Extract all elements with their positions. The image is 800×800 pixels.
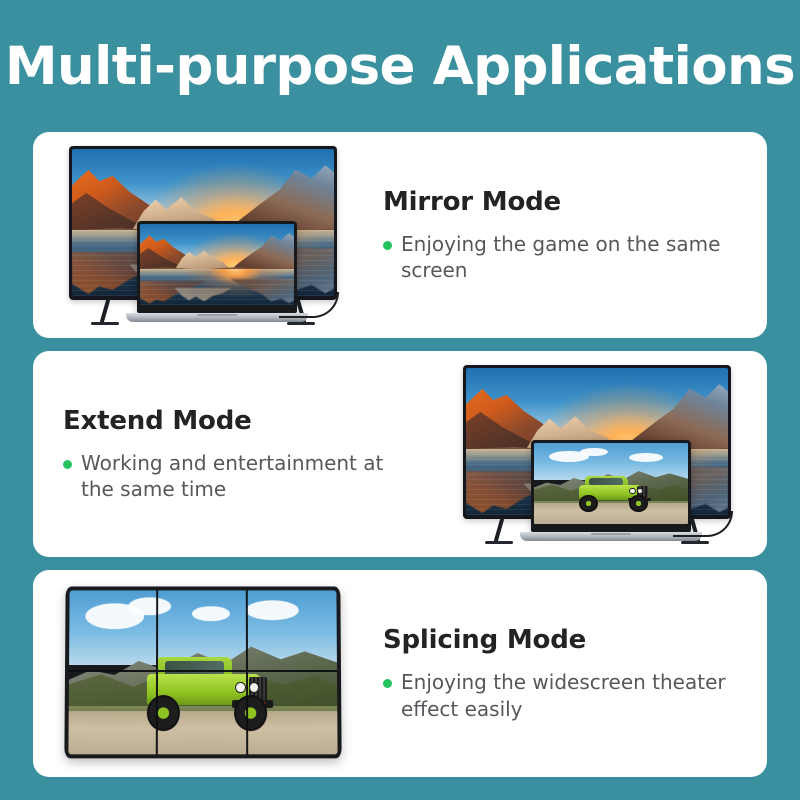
media-extend-mode bbox=[427, 351, 767, 557]
card-description: Enjoying the widescreen theater effect e… bbox=[401, 669, 749, 722]
tv-foot-right bbox=[681, 541, 709, 544]
card-splicing-mode[interactable]: Splicing Mode Enjoying the widescreen th… bbox=[33, 570, 767, 777]
card-description: Enjoying the game on the same screen bbox=[401, 231, 749, 284]
offroad-jeep-scene bbox=[68, 590, 337, 754]
media-splicing-mode bbox=[33, 570, 373, 777]
laptop-screen bbox=[531, 440, 691, 532]
page-title: Multi-purpose Applications bbox=[5, 40, 795, 93]
card-extend-mode[interactable]: Extend Mode Working and entertainment at… bbox=[33, 351, 767, 557]
card-description: Working and entertainment at the same ti… bbox=[81, 450, 417, 503]
promo-page: Multi-purpose Applications bbox=[0, 0, 800, 800]
card-bullet: Enjoying the widescreen theater effect e… bbox=[383, 669, 749, 722]
jeep-vehicle bbox=[138, 656, 272, 728]
tv-foot-right bbox=[287, 322, 315, 325]
jeep-vehicle bbox=[574, 475, 651, 511]
card-bullet: Enjoying the game on the same screen bbox=[383, 231, 749, 284]
copy-splicing-mode: Splicing Mode Enjoying the widescreen th… bbox=[373, 625, 767, 722]
bullet-dot-icon bbox=[383, 241, 392, 250]
bullet-dot-icon bbox=[383, 679, 392, 688]
card-title: Mirror Mode bbox=[383, 187, 749, 217]
card-bullet: Working and entertainment at the same ti… bbox=[63, 450, 417, 503]
laptop-screen bbox=[137, 221, 297, 313]
page-header: Multi-purpose Applications bbox=[0, 0, 800, 132]
media-mirror-mode bbox=[33, 132, 373, 338]
tv-leg-left bbox=[494, 518, 504, 542]
offroad-jeep-scene bbox=[534, 443, 688, 524]
copy-mirror-mode: Mirror Mode Enjoying the game on the sam… bbox=[373, 187, 767, 284]
tv-foot-left bbox=[91, 322, 119, 325]
video-wall-device bbox=[64, 586, 341, 758]
tv-foot-left bbox=[485, 541, 513, 544]
laptop-device bbox=[531, 440, 691, 541]
card-title: Splicing Mode bbox=[383, 625, 749, 655]
video-wall-screen bbox=[68, 590, 337, 754]
bullet-dot-icon bbox=[63, 460, 72, 469]
tv-leg-left bbox=[100, 299, 110, 323]
card-title: Extend Mode bbox=[63, 406, 417, 436]
laptop-device bbox=[137, 221, 297, 322]
hdmi-cable bbox=[279, 292, 339, 318]
copy-extend-mode: Extend Mode Working and entertainment at… bbox=[33, 406, 427, 503]
sunset-lake-scene-mirrored bbox=[140, 224, 294, 305]
hdmi-cable bbox=[673, 511, 733, 537]
card-mirror-mode[interactable]: Mirror Mode Enjoying the game on the sam… bbox=[33, 132, 767, 338]
